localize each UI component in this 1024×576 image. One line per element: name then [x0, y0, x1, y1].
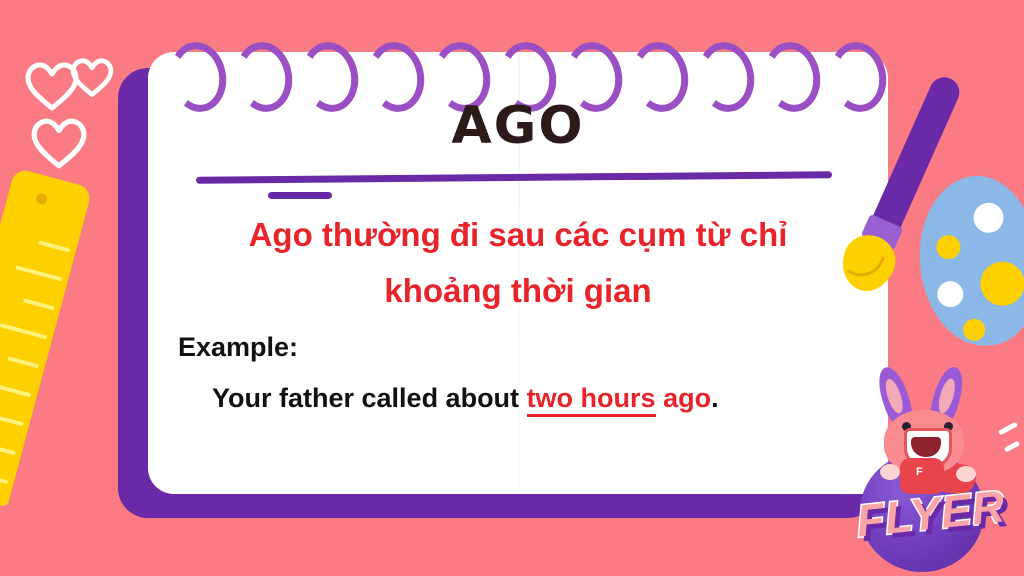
sentence-highlight: two hours	[527, 383, 656, 417]
ruler-hole	[35, 192, 48, 205]
title-underline-short	[268, 192, 332, 199]
palette-blob	[972, 201, 1005, 234]
rabbit-paw-left	[880, 464, 900, 480]
rule-text-line-1: Ago thường đi sau các cụm từ chỉ	[148, 216, 888, 254]
sparkle-icon	[1004, 441, 1020, 453]
sentence-keyword: ago	[663, 383, 711, 413]
palette-blob	[936, 280, 965, 309]
rabbit-badge-letter: F	[916, 466, 923, 478]
example-label: Example:	[178, 332, 298, 363]
ruler-tick	[0, 472, 8, 484]
ruler-tick	[23, 298, 55, 310]
paint-palette-icon	[911, 170, 1024, 351]
palette-blob	[978, 259, 1024, 307]
ruler-tick	[7, 356, 39, 368]
heart-icon	[70, 58, 114, 98]
sentence-space	[656, 383, 664, 413]
page-title: AGO	[148, 96, 888, 156]
rabbit-paw-right	[956, 466, 976, 482]
sparkle-icon	[998, 422, 1018, 436]
ruler-tick	[15, 265, 62, 281]
example-sentence: Your father called about two hours ago.	[212, 383, 719, 414]
rule-text-line-2: khoảng thời gian	[148, 272, 888, 310]
sentence-before: Your father called about	[212, 383, 527, 413]
slide-canvas: AGO Ago thường đi sau các cụm từ chỉ kho…	[0, 0, 1024, 576]
heart-icon	[30, 118, 88, 170]
ruler-tick	[0, 414, 24, 426]
ruler-tick	[0, 439, 16, 455]
palette-blob	[962, 318, 986, 342]
rabbit-mascot: F	[860, 366, 988, 484]
palette-blob	[935, 234, 961, 260]
sentence-period: .	[711, 383, 719, 413]
ruler-tick	[38, 240, 70, 252]
ruler-tick	[0, 323, 47, 339]
ruler-icon	[0, 168, 93, 507]
spiral-binding	[148, 42, 888, 104]
ruler-tick	[0, 381, 31, 397]
flyer-logo[interactable]: F FLYER	[838, 360, 1024, 576]
